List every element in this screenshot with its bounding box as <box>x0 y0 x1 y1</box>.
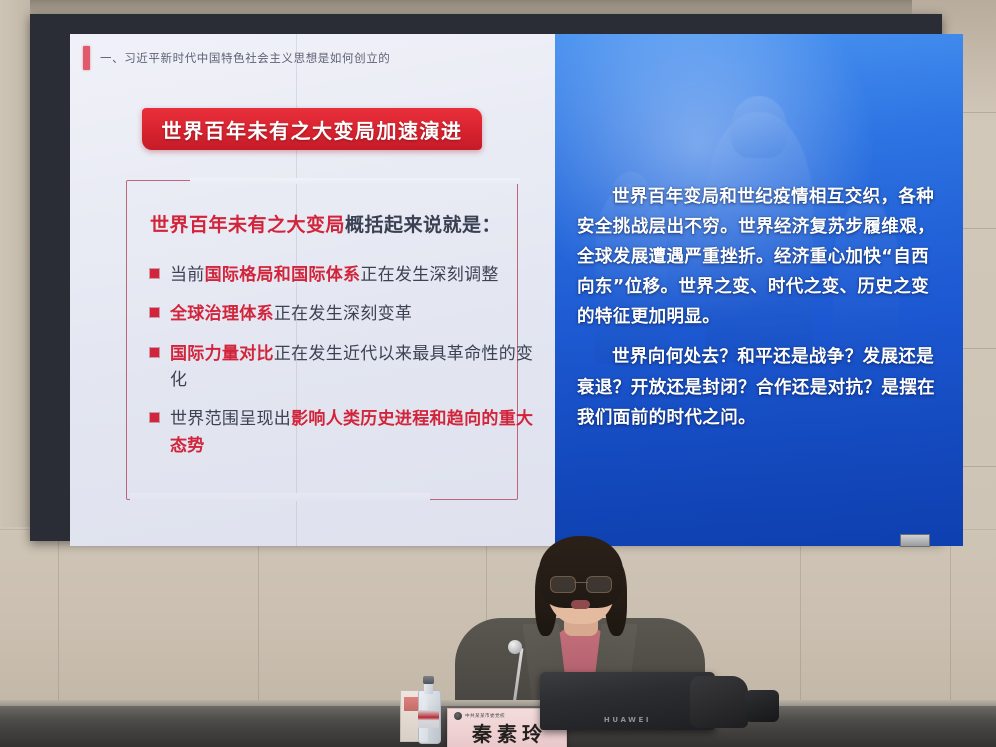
bullet-text: 全球治理体系正在发生深刻变革 <box>170 301 412 327</box>
screenshot-root: 一、习近平新时代中国特色社会主义思想是如何创立的 世界百年未有之大变局加速演进 … <box>0 0 996 747</box>
slide-left-column: 一、习近平新时代中国特色社会主义思想是如何创立的 世界百年未有之大变局加速演进 … <box>70 34 555 546</box>
laptop[interactable]: HUAWEI <box>540 672 715 730</box>
slide-bullet-list: 当前国际格局和国际体系正在发生深刻调整全球治理体系正在发生深刻变革国际力量对比正… <box>150 262 550 472</box>
slide-bullet-1: 当前国际格局和国际体系正在发生深刻调整 <box>150 262 550 288</box>
screen-mount-bracket <box>900 534 930 547</box>
slide-banner: 世界百年未有之大变局加速演进 <box>142 108 482 150</box>
emblem-icon <box>454 712 462 720</box>
header-accent-tab <box>83 46 90 70</box>
slide-bullet-4: 世界范围呈现出影响人类历史进程和趋向的重大态势 <box>150 406 550 459</box>
slide-bullet-2: 全球治理体系正在发生深刻变革 <box>150 301 550 327</box>
nameplate-organization: 中共某某市委党校 <box>465 713 505 719</box>
bullet-text: 国际力量对比正在发生近代以来最具革命性的变化 <box>170 341 550 394</box>
bullet-text: 当前国际格局和国际体系正在发生深刻调整 <box>170 262 499 288</box>
bullet-marker-icon <box>150 413 159 422</box>
desk-dark-object <box>745 690 779 722</box>
blue-panel-paragraph-1: 世界百年变局和世纪疫情相互交织，各种安全挑战层出不穷。世界经济复苏步履维艰，全球… <box>577 182 941 332</box>
slide-banner-title: 世界百年未有之大变局加速演进 <box>162 115 463 144</box>
presenter-mouth <box>571 600 590 609</box>
projection-screen-frame: 一、习近平新时代中国特色社会主义思想是如何创立的 世界百年未有之大变局加速演进 … <box>30 14 942 541</box>
water-bottle <box>418 676 439 742</box>
presenter-hair <box>539 536 623 608</box>
slide-bullet-3: 国际力量对比正在发生近代以来最具革命性的变化 <box>150 341 550 394</box>
blue-panel-paragraph-2: 世界向何处去？和平还是战争？发展还是衰退？开放还是封闭？合作还是对抗？是摆在我们… <box>577 342 941 432</box>
laptop-brand-label: HUAWEI <box>540 716 715 724</box>
bullet-text: 世界范围呈现出影响人类历史进程和趋向的重大态势 <box>170 406 550 459</box>
projection-screen: 一、习近平新时代中国特色社会主义思想是如何创立的 世界百年未有之大变局加速演进 … <box>70 34 963 546</box>
lead-highlight: 世界百年未有之大变局 <box>150 214 345 236</box>
bottle-cap <box>423 676 434 684</box>
blue-panel-text: 世界百年变局和世纪疫情相互交织，各种安全挑战层出不穷。世界经济复苏步履维艰，全球… <box>577 182 941 443</box>
bullet-marker-icon <box>150 348 159 357</box>
slide-header: 一、习近平新时代中国特色社会主义思想是如何创立的 <box>83 46 390 70</box>
presentation-slide: 一、习近平新时代中国特色社会主义思想是如何创立的 世界百年未有之大变局加速演进 … <box>70 34 963 546</box>
slide-header-text: 一、习近平新时代中国特色社会主义思想是如何创立的 <box>100 50 390 66</box>
bullet-marker-icon <box>150 269 159 278</box>
bullet-marker-icon <box>150 308 159 317</box>
bottle-label <box>418 710 439 728</box>
wall-left <box>0 0 30 560</box>
bracket-gap-bottom <box>130 493 430 501</box>
desk-bag <box>690 676 748 728</box>
nameplate-logo: 中共某某市委党校 <box>454 712 505 720</box>
bracket-gap-top <box>190 178 520 184</box>
slide-right-blue-panel: 世界百年变局和世纪疫情相互交织，各种安全挑战层出不穷。世界经济复苏步履维艰，全球… <box>555 34 963 546</box>
slide-lead-line: 世界百年未有之大变局概括起来说就是： <box>150 210 540 237</box>
glasses-icon <box>550 576 612 591</box>
lead-rest: 概括起来说就是： <box>345 214 501 236</box>
microphone-head <box>508 640 522 654</box>
